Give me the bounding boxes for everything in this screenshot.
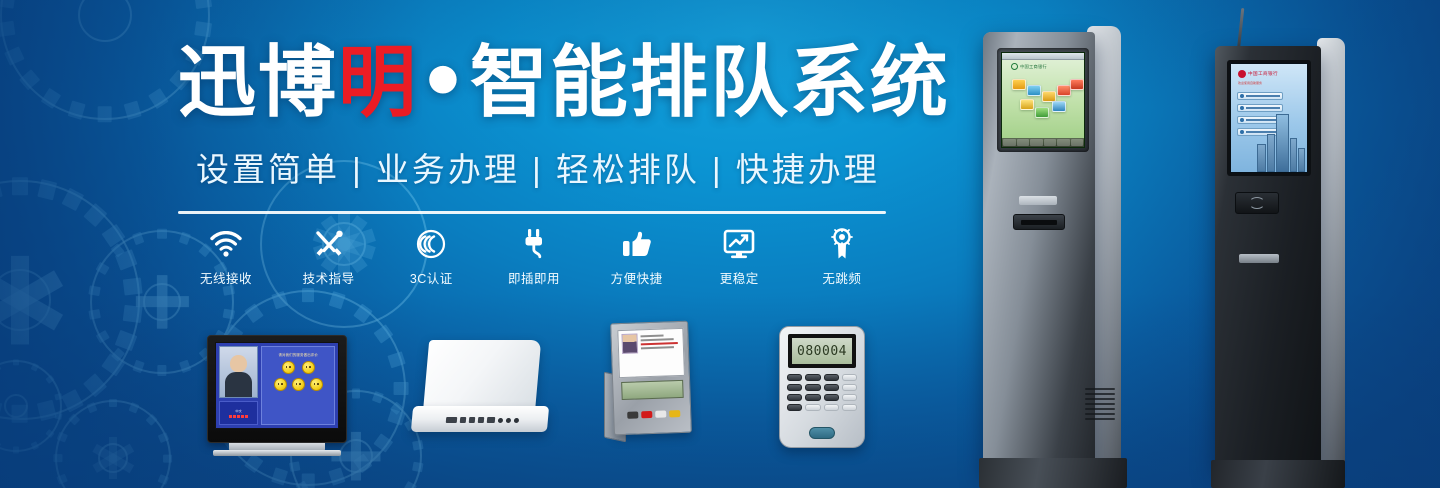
bank-logo-mark — [1238, 70, 1246, 78]
product-evaluation-monitor: 中文 请对我们的服务做出评价 — [207, 335, 347, 443]
staff-id-card — [617, 328, 685, 378]
evaluation-panel: 请对我们的服务做出评价 — [261, 346, 335, 425]
ticket-printer-slot[interactable] — [1239, 254, 1279, 263]
thumbs-up-icon — [589, 225, 685, 263]
bank-name: 中国工商银行 — [1248, 71, 1278, 77]
title-part-1: 迅博 — [178, 38, 338, 128]
title-accent-char: 明 — [338, 38, 418, 128]
kiosk-brand-plate — [1019, 196, 1057, 205]
host-port-strip — [446, 416, 539, 424]
feature-label: 即插即用 — [486, 268, 582, 287]
screen-notice-text: 欢迎使用自助服务 — [1238, 81, 1262, 85]
header-divider — [178, 211, 886, 214]
bank-logo: 中国工商银行 — [1238, 70, 1278, 78]
kiosk-screen[interactable]: 中国工商银行 欢迎使用自助服务 — [1230, 63, 1308, 173]
feature-label: 3C认证 — [383, 268, 479, 287]
feature-item-wireless: 无线接收 — [178, 225, 274, 287]
service-tile[interactable] — [1035, 107, 1049, 118]
bank-logo: 中国工商银行 — [1011, 63, 1047, 70]
product-desktop-evaluator — [604, 322, 696, 448]
service-tile[interactable] — [1012, 79, 1026, 90]
monitor-chart-icon — [691, 225, 787, 263]
rating-stars — [229, 415, 248, 418]
rating-face-row-bottom — [274, 378, 323, 391]
kiosk-base-plinth — [1211, 460, 1345, 488]
feature-item-stable: 更稳定 — [691, 225, 787, 287]
feature-item-3c-certified: 3C认证 — [383, 225, 479, 287]
feature-item-technical-support: 技术指导 — [281, 225, 377, 287]
staff-name-box: 中文 — [219, 401, 258, 425]
nfc-wave-icon — [1249, 197, 1265, 209]
feature-label: 无跳频 — [794, 268, 890, 287]
product-host-controller — [412, 340, 548, 440]
feature-label: 无线接收 — [178, 268, 274, 287]
feature-label: 技术指导 — [281, 268, 377, 287]
tools-icon — [281, 225, 377, 263]
host-panel — [423, 340, 541, 414]
feature-item-no-frequency-hop: 无跳频 — [794, 225, 890, 287]
wifi-icon — [178, 225, 274, 263]
terminal-lcd-housing: 080004 — [788, 334, 856, 368]
evaluator-lcd-display — [621, 380, 684, 400]
product-showcase: 中文 请对我们的服务做出评价 — [0, 300, 960, 488]
service-tile[interactable] — [1057, 85, 1071, 96]
terminal-enter-button[interactable] — [809, 427, 835, 439]
plug-icon — [486, 225, 582, 263]
kiosk-side-column — [1317, 38, 1345, 470]
ccc-badge-icon — [383, 225, 479, 263]
screen-building-artwork — [1257, 102, 1305, 172]
feature-label: 方便快捷 — [589, 268, 685, 287]
face-satisfied-icon[interactable] — [302, 361, 315, 374]
page-subtitle: 设置简单 | 业务办理 | 轻松排队 | 快捷办理 — [196, 148, 956, 192]
page-title: 迅博明•智能排队系统 — [178, 40, 938, 126]
service-tile[interactable] — [1070, 79, 1084, 90]
kiosk-screen-frame: 中国工商银行 欢迎使用自助服务 — [1227, 60, 1311, 176]
staff-name: 中文 — [236, 409, 242, 413]
feature-item-convenient: 方便快捷 — [589, 225, 685, 287]
id-card-photo — [621, 333, 638, 354]
kiosk-base-plinth — [979, 458, 1127, 488]
service-tile[interactable] — [1027, 85, 1041, 96]
title-part-2: 智能排队系统 — [470, 38, 950, 128]
screen-title-bar — [1002, 53, 1084, 60]
bank-name: 中国工商银行 — [1020, 64, 1047, 70]
face-very-satisfied-icon[interactable] — [282, 361, 295, 374]
kiosk-screen[interactable]: 中国工商银行 — [1001, 52, 1085, 148]
feature-label: 更稳定 — [691, 268, 787, 287]
screen-bottom-toolbar[interactable] — [1002, 138, 1084, 147]
service-tile[interactable] — [1020, 99, 1034, 110]
staff-panel: 中文 — [219, 346, 258, 425]
face-very-unsatisfied-icon[interactable] — [310, 378, 323, 391]
product-keypad-terminal: 080004 — [779, 326, 865, 448]
feature-list: 无线接收 技术指导 — [178, 225, 890, 291]
service-tile-group — [1012, 79, 1084, 125]
title-separator-dot: • — [418, 38, 470, 128]
ticket-printer-slot[interactable] — [1013, 214, 1065, 230]
award-ribbon-icon — [794, 225, 890, 263]
rating-face-row-top — [282, 361, 315, 374]
kiosk-vent-grille — [1085, 388, 1115, 422]
feature-item-plug-and-play: 即插即用 — [486, 225, 582, 287]
terminal-lcd-value: 080004 — [792, 338, 852, 364]
card-reader[interactable] — [1235, 192, 1279, 214]
id-card-text-lines — [640, 332, 680, 373]
service-tile[interactable] — [1052, 101, 1066, 112]
staff-photo — [219, 346, 258, 398]
product-kiosk-blue: 中国工商银行 欢迎使用自助服务 — [1205, 22, 1365, 488]
evaluator-keypad[interactable] — [622, 402, 685, 426]
face-unsatisfied-icon[interactable] — [292, 378, 305, 391]
monitor-base — [213, 450, 341, 456]
kiosk-screen-frame: 中国工商银行 — [997, 48, 1089, 152]
bank-logo-mark — [1011, 63, 1018, 70]
product-kiosk-green: 中国工商银行 — [975, 18, 1155, 488]
face-neutral-icon[interactable] — [274, 378, 287, 391]
monitor-screen: 中文 请对我们的服务做出评价 — [215, 342, 339, 429]
menu-item[interactable] — [1237, 92, 1283, 100]
evaluator-body — [610, 321, 692, 436]
terminal-keypad-grid[interactable] — [787, 374, 857, 411]
evaluation-prompt: 请对我们的服务做出评价 — [278, 352, 318, 357]
promo-banner: 迅博明•智能排队系统 设置简单 | 业务办理 | 轻松排队 | 快捷办理 无线接… — [0, 0, 1440, 488]
